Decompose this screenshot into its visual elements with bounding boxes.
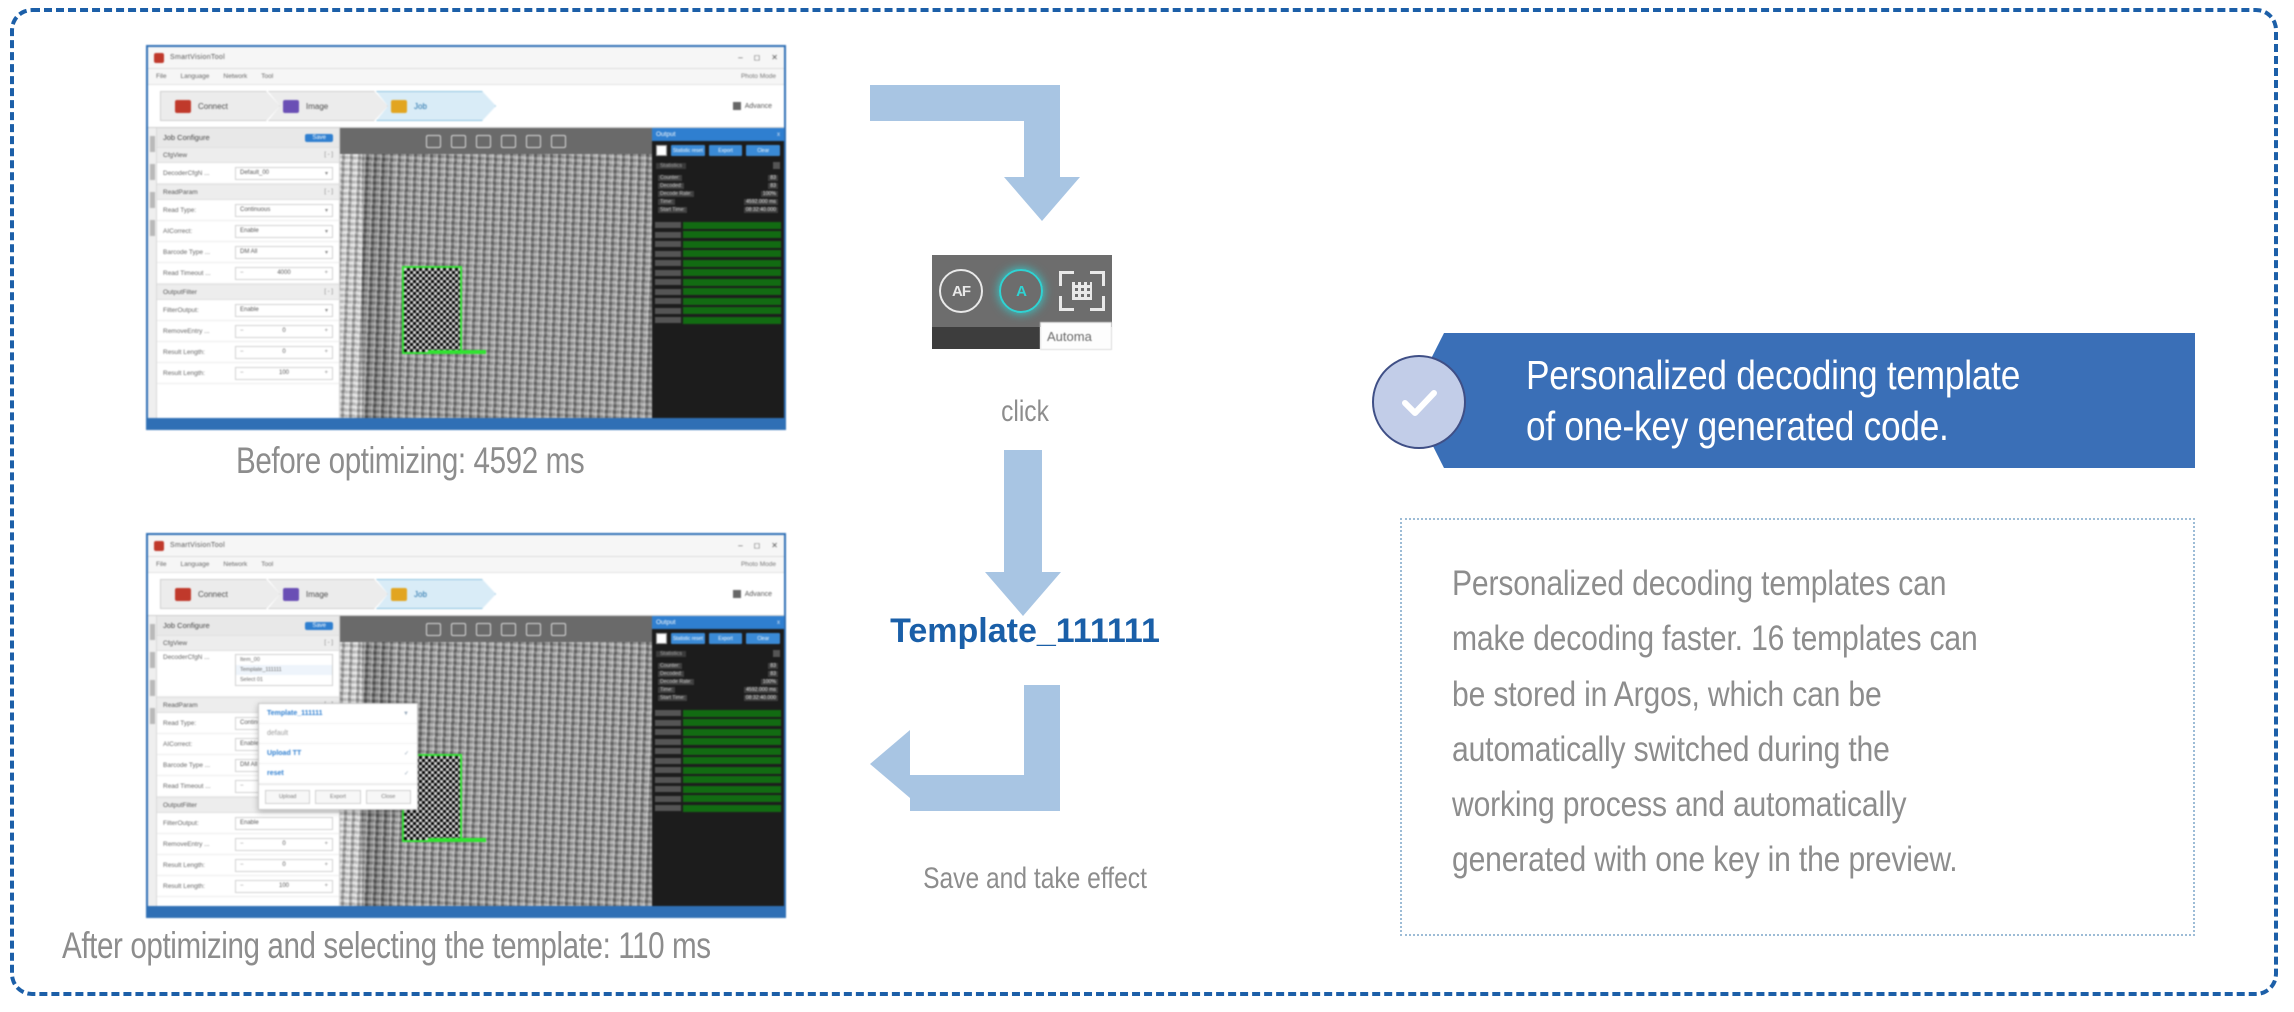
image-preview-pane[interactable] (340, 128, 652, 429)
output-buttons[interactable]: Statistic reset Export Clear (652, 141, 784, 160)
info-text: Personalized decoding templates can make… (1452, 556, 2209, 888)
window-menubar[interactable]: File Language Network Tool Photo Mode (148, 69, 784, 85)
row-label: Result Length: (163, 883, 235, 890)
autofocus-icon[interactable]: AF (939, 269, 983, 313)
row-label: Read Timeout ... (163, 270, 235, 277)
minimize-icon[interactable]: – (738, 542, 742, 550)
auto-mode-icon[interactable]: A (999, 269, 1043, 313)
tab-job-label: Job (414, 590, 427, 599)
roi-tail (428, 350, 486, 354)
ribbon-tabs[interactable]: Connect Image Job Advance (148, 573, 784, 616)
record-icon[interactable] (451, 623, 466, 636)
stepper-plus-icon[interactable]: + (324, 370, 328, 376)
template-select-dialog[interactable]: Template_111111 ▼ default Upload TT ✓ re… (258, 703, 418, 810)
dialog-upload-label: Upload TT (267, 750, 301, 757)
left-rail[interactable] (148, 616, 157, 917)
aicorrect-select[interactable]: Enable ▾ (235, 225, 333, 238)
row-result-length-1[interactable]: Result Length: − 0 + (157, 855, 339, 876)
log-row (655, 738, 781, 746)
log-row (655, 709, 781, 717)
tab-job-label: Job (414, 102, 427, 111)
log-row (655, 316, 781, 324)
roi-tail (428, 838, 486, 842)
tab-connect[interactable]: Connect (160, 91, 280, 121)
toolbar-footer (932, 327, 1040, 349)
row-remove-entry[interactable]: RemoveEntry ... − 0 + (157, 834, 339, 855)
camera-icon[interactable] (426, 623, 441, 636)
stepper-minus-icon[interactable]: − (240, 370, 244, 376)
row-decoder-cfg[interactable]: DecoderCfgN ... Default_00 ▾ (157, 163, 339, 184)
log-row (655, 728, 781, 736)
log-row (655, 307, 781, 315)
window-title: SmartVisionTool (170, 542, 225, 549)
stepper-plus-icon[interactable]: + (324, 349, 328, 355)
row-label: Result Length: (163, 862, 235, 869)
log-row (655, 795, 781, 803)
check-icon: ✓ (404, 770, 409, 777)
log-row (655, 719, 781, 727)
output-checkbox[interactable] (656, 633, 667, 644)
window-titlebar: SmartVisionTool – ◻ ✕ (148, 535, 784, 557)
row-value: Enable (240, 228, 259, 234)
log-row (655, 240, 781, 248)
banner-text: Personalized decoding template of one-ke… (1526, 350, 2020, 450)
advance-button[interactable]: Advance (733, 590, 772, 598)
menu-item-tool[interactable]: Tool (261, 561, 273, 568)
job-icon (391, 100, 407, 113)
log-row (655, 776, 781, 784)
dialog-default-label: default (267, 730, 288, 737)
zoom-in-icon[interactable] (526, 135, 541, 148)
job-configure-title: Job Configure (163, 621, 210, 630)
row-read-timeout[interactable]: Read Timeout ... − 4000 + (157, 263, 339, 284)
log-row (655, 259, 781, 267)
arrow-save-and-apply (870, 685, 1110, 845)
section-readparam-title: ReadParam (163, 189, 198, 196)
save-and-take-effect-label: Save and take effect (904, 862, 1166, 896)
stat-row: Decode Rate:100% (658, 679, 778, 685)
window-statusbar (148, 418, 784, 428)
caption-before: Before optimizing: 4592 ms (236, 440, 584, 482)
scan-code-icon[interactable] (1059, 271, 1105, 311)
menu-item-file[interactable]: File (156, 561, 166, 568)
chevron-down-icon[interactable]: ▼ (403, 711, 409, 717)
arrow-click-to-template (985, 450, 1061, 618)
menu-item-language[interactable]: Language (180, 561, 209, 568)
result-length-stepper-1[interactable]: − 0 + (235, 346, 333, 359)
output-title: Output (656, 131, 676, 138)
rail-icon-1[interactable] (150, 136, 155, 152)
stepper-minus-icon[interactable]: − (240, 783, 244, 789)
row-label: Result Length: (163, 370, 235, 377)
log-row (655, 747, 781, 755)
stat-row: Decoded:83 (658, 671, 778, 677)
log-row (655, 288, 781, 296)
statistic-reset-button[interactable]: Statistic reset (671, 145, 705, 156)
rail-icon-3[interactable] (150, 192, 155, 208)
barcode-type-select[interactable]: DM All ▾ (235, 246, 333, 259)
log-row (655, 297, 781, 305)
row-label: Read Timeout ... (163, 783, 235, 790)
save-image-icon[interactable] (476, 135, 491, 148)
stepper-minus-icon[interactable]: − (240, 841, 244, 847)
left-rail[interactable] (148, 128, 157, 429)
zoom-out-icon[interactable] (551, 623, 566, 636)
row-label: Read Type: (163, 720, 235, 727)
tab-image-label: Image (306, 102, 328, 111)
chevron-down-icon[interactable]: ▾ (325, 207, 328, 214)
dropdown-opt-1[interactable]: Item_00 (236, 655, 332, 665)
job-configure-header: Job Configure Save (157, 616, 339, 635)
statistics-table: Counter:83 Decoded:83 Decode Rate:100% T… (652, 659, 784, 707)
dialog-row-upload[interactable]: Upload TT ✓ (259, 744, 417, 764)
advance-button[interactable]: Advance (733, 102, 772, 110)
remove-entry-stepper[interactable]: − 0 + (235, 838, 333, 851)
job-configure-title: Job Configure (163, 133, 210, 142)
stepper-minus-icon[interactable]: − (240, 883, 244, 889)
rail-icon-3[interactable] (150, 680, 155, 696)
row-label: Barcode Type ... (163, 249, 235, 256)
decoder-cfg-select[interactable]: Default_00 ▾ (235, 167, 333, 180)
log-row (655, 278, 781, 286)
rail-icon-2[interactable] (150, 652, 155, 668)
row-label: Result Length: (163, 349, 235, 356)
tab-image[interactable]: Image (268, 91, 388, 121)
menu-item-language[interactable]: Language (180, 73, 209, 80)
app-logo-icon (154, 53, 164, 63)
window-controls[interactable]: – ◻ ✕ (738, 54, 778, 62)
stepper-plus-icon[interactable]: + (324, 883, 328, 889)
stat-row: Decoded:83 (658, 183, 778, 189)
row-value: 100 (279, 370, 289, 376)
output-panel: Output x Statistic reset Export Clear St… (652, 616, 784, 917)
output-close-icon[interactable]: x (777, 132, 780, 138)
dropdown-opt-3[interactable]: Select 01 (236, 675, 332, 685)
row-label: DecoderCfgN ... (163, 654, 235, 661)
stepper-minus-icon[interactable]: − (240, 270, 244, 276)
read-timeout-stepper[interactable]: − 4000 + (235, 267, 333, 280)
chevron-down-icon[interactable]: ▾ (325, 170, 328, 177)
stepper-plus-icon[interactable]: + (324, 270, 328, 276)
window-controls[interactable]: – ◻ ✕ (738, 542, 778, 550)
maximize-icon[interactable]: ◻ (754, 54, 761, 62)
menu-photo-mode[interactable]: Photo Mode (741, 73, 776, 80)
menu-item-network[interactable]: Network (223, 73, 247, 80)
row-label: Read Type: (163, 207, 235, 214)
section-cfgview-toggle[interactable]: [ - ] (324, 152, 333, 158)
row-remove-entry[interactable]: RemoveEntry ... − 0 + (157, 321, 339, 342)
zoom-fit-icon[interactable] (501, 135, 516, 148)
row-result-length-2[interactable]: Result Length: − 100 + (157, 876, 339, 897)
tab-job[interactable]: Job (376, 579, 496, 609)
log-row (655, 250, 781, 258)
stat-row: Time:4592.000 ms (658, 687, 778, 693)
app-logo-icon (154, 541, 164, 551)
stat-row: Decode Rate:100% (658, 191, 778, 197)
section-cfgview-toggle[interactable]: [ - ] (324, 640, 333, 646)
section-outputfilter[interactable]: OutputFilter [ - ] (157, 284, 339, 300)
maximize-icon[interactable]: ◻ (754, 542, 761, 550)
statistics-header: Statistics (652, 648, 784, 659)
window-title: SmartVisionTool (170, 54, 225, 61)
minimize-icon[interactable]: – (738, 54, 742, 62)
export-button[interactable]: Export (709, 633, 743, 644)
row-value: 4000 (277, 270, 290, 276)
stepper-plus-icon[interactable]: + (324, 328, 328, 334)
stepper-plus-icon[interactable]: + (324, 841, 328, 847)
dialog-close-button[interactable]: Close (366, 790, 411, 804)
stepper-minus-icon[interactable]: − (240, 349, 244, 355)
check-icon: ✓ (404, 750, 409, 757)
statistics-pin-icon[interactable] (773, 650, 780, 657)
tab-image[interactable]: Image (268, 579, 388, 609)
section-outputfilter-toggle[interactable]: [ - ] (324, 289, 333, 295)
save-image-icon[interactable] (476, 623, 491, 636)
output-titlebar: Output x (652, 616, 784, 629)
menu-photo-mode[interactable]: Photo Mode (741, 561, 776, 568)
ribbon-tabs[interactable]: Connect Image Job Advance (148, 85, 784, 128)
stepper-minus-icon[interactable]: − (240, 328, 244, 334)
advance-label: Advance (745, 591, 772, 598)
output-panel: Output x Statistic reset Export Clear St… (652, 128, 784, 429)
clear-button[interactable]: Clear (746, 145, 780, 156)
decode-log-list[interactable] (652, 707, 784, 917)
menu-item-tool[interactable]: Tool (261, 73, 273, 80)
result-length-stepper-2[interactable]: − 100 + (235, 367, 333, 380)
remove-entry-stepper[interactable]: − 0 + (235, 325, 333, 338)
row-label: AICorrect: (163, 741, 235, 748)
section-readparam[interactable]: ReadParam [ - ] (157, 184, 339, 200)
log-row (655, 785, 781, 793)
tab-connect[interactable]: Connect (160, 579, 280, 609)
dialog-export-button[interactable]: Export (315, 790, 360, 804)
chevron-down-icon[interactable]: ▾ (325, 249, 328, 256)
row-label: RemoveEntry ... (163, 328, 235, 335)
section-outputfilter-title: OutputFilter (163, 802, 197, 809)
rail-icon-1[interactable] (150, 624, 155, 640)
section-cfgview-title: CfgView (163, 640, 187, 647)
caption-after: After optimizing and selecting the templ… (62, 925, 711, 967)
statistic-reset-button[interactable]: Statistic reset (671, 633, 705, 644)
row-label: Barcode Type ... (163, 762, 235, 769)
row-value: Continuous (240, 207, 270, 213)
tab-connect-label: Connect (198, 590, 228, 599)
record-icon[interactable] (451, 135, 466, 148)
row-value: Enable (240, 307, 259, 313)
screenshot-after-optimizing: SmartVisionTool – ◻ ✕ File Language Netw… (146, 533, 786, 918)
section-outputfilter-title: OutputFilter (163, 289, 197, 296)
statistics-pin-icon[interactable] (773, 162, 780, 169)
stepper-plus-icon[interactable]: + (324, 862, 328, 868)
image-icon (283, 100, 299, 113)
rail-icon-4[interactable] (150, 708, 155, 724)
row-result-length-2[interactable]: Result Length: − 100 + (157, 363, 339, 384)
log-row (655, 269, 781, 277)
row-label: FilterOutput: (163, 820, 235, 827)
job-configure-header: Job Configure Save (157, 128, 339, 147)
stat-row: Counter:83 (658, 175, 778, 181)
row-value: 0 (282, 328, 285, 334)
window-titlebar: SmartVisionTool – ◻ ✕ (148, 47, 784, 69)
clear-button[interactable]: Clear (746, 633, 780, 644)
auto-mode-tooltip: Automa (1040, 322, 1112, 350)
statistics-label: Statistics (656, 651, 686, 657)
filter-output-select[interactable]: Enable ▾ (235, 304, 333, 317)
result-length-stepper-2[interactable]: − 100 + (235, 880, 333, 893)
filter-output-select[interactable]: Enable (235, 817, 333, 830)
dialog-row-default[interactable]: default (259, 724, 417, 744)
stat-row: Counter:83 (658, 663, 778, 669)
dialog-buttons[interactable]: Upload Export Close (259, 784, 417, 809)
export-button[interactable]: Export (709, 145, 743, 156)
row-aicorrect[interactable]: AICorrect: Enable ▾ (157, 221, 339, 242)
section-cfgview-title: CfgView (163, 152, 187, 159)
camera-mode-toolbar[interactable]: AF A (932, 255, 1112, 327)
dialog-template-name: Template_111111 (267, 710, 323, 717)
row-result-length-1[interactable]: Result Length: − 0 + (157, 342, 339, 363)
dialog-row-template[interactable]: Template_111111 ▼ (259, 704, 417, 724)
job-icon (391, 588, 407, 601)
grid-icon (733, 102, 741, 110)
log-row (655, 804, 781, 812)
chevron-down-icon[interactable]: ▾ (325, 307, 328, 314)
image-toolbar[interactable] (340, 128, 652, 154)
stepper-minus-icon[interactable]: − (240, 862, 244, 868)
arrow-into-toolbar (870, 85, 1110, 265)
row-label: FilterOutput: (163, 307, 235, 314)
output-title: Output (656, 619, 676, 626)
stat-row: Time:4592.000 ms (658, 199, 778, 205)
log-row (655, 766, 781, 774)
close-icon[interactable]: ✕ (771, 542, 778, 550)
tab-connect-label: Connect (198, 102, 228, 111)
read-type-select[interactable]: Continuous ▾ (235, 204, 333, 217)
section-cfgview[interactable]: CfgView [ - ] (157, 147, 339, 163)
rail-icon-2[interactable] (150, 164, 155, 180)
check-circle-icon (1372, 355, 1466, 449)
rail-icon-4[interactable] (150, 220, 155, 236)
advance-label: Advance (745, 103, 772, 110)
statistics-label: Statistics (656, 163, 686, 169)
dialog-reset-label: reset (267, 770, 284, 777)
decode-log-list[interactable] (652, 219, 784, 429)
result-length-stepper-1[interactable]: − 0 + (235, 859, 333, 872)
grid-icon (733, 590, 741, 598)
image-icon (283, 588, 299, 601)
stat-row: Start Time:08:32:40.000 (658, 695, 778, 701)
log-row (655, 221, 781, 229)
chevron-down-icon[interactable]: ▾ (325, 228, 328, 235)
section-readparam-title: ReadParam (163, 702, 198, 709)
log-row (655, 231, 781, 239)
window-menubar[interactable]: File Language Network Tool Photo Mode (148, 557, 784, 573)
zoom-out-icon[interactable] (551, 135, 566, 148)
datamatrix-roi (402, 266, 462, 354)
row-barcode-type[interactable]: Barcode Type ... DM All ▾ (157, 242, 339, 263)
row-value: 0 (282, 349, 285, 355)
image-toolbar[interactable] (340, 616, 652, 642)
save-config-button[interactable]: Save (305, 134, 333, 142)
menu-item-network[interactable]: Network (223, 561, 247, 568)
row-filter-output[interactable]: FilterOutput: Enable ▾ (157, 300, 339, 321)
zoom-in-icon[interactable] (526, 623, 541, 636)
click-label: click (968, 395, 1083, 429)
row-value: DM All (240, 249, 257, 255)
connect-icon (175, 588, 191, 601)
section-cfgview[interactable]: CfgView [ - ] (157, 635, 339, 651)
template-name-label: Template_111111 (865, 612, 1185, 651)
close-icon[interactable]: ✕ (771, 54, 778, 62)
camera-icon[interactable] (426, 135, 441, 148)
tab-image-label: Image (306, 590, 328, 599)
dialog-row-reset[interactable]: reset ✓ (259, 764, 417, 784)
job-configure-panel: Job Configure Save CfgView [ - ] Decoder… (157, 128, 340, 429)
output-checkbox[interactable] (656, 145, 667, 156)
statistics-table: Counter:83 Decoded:83 Decode Rate:100% T… (652, 171, 784, 219)
dialog-upload-button[interactable]: Upload (265, 790, 310, 804)
camera-image (340, 154, 652, 429)
screenshot-before-optimizing: SmartVisionTool – ◻ ✕ File Language Netw… (146, 45, 786, 430)
log-row (655, 757, 781, 765)
row-read-type[interactable]: Read Type: Continuous ▾ (157, 200, 339, 221)
connect-icon (175, 100, 191, 113)
output-titlebar: Output x (652, 128, 784, 141)
menu-item-file[interactable]: File (156, 73, 166, 80)
stat-row: Start Time:08:32:40.000 (658, 207, 778, 213)
row-filter-output[interactable]: FilterOutput: Enable (157, 813, 339, 834)
row-label: RemoveEntry ... (163, 841, 235, 848)
window-statusbar (148, 906, 784, 916)
row-label: DecoderCfgN ... (163, 170, 235, 177)
zoom-fit-icon[interactable] (501, 623, 516, 636)
row-decoder-cfg-open[interactable]: DecoderCfgN ... Item_00 Template_111111 … (157, 651, 339, 697)
output-buttons[interactable]: Statistic reset Export Clear (652, 629, 784, 648)
statistics-header: Statistics (652, 160, 784, 171)
row-value: Default_00 (240, 170, 269, 176)
row-label: AICorrect: (163, 228, 235, 235)
save-config-button[interactable]: Save (305, 622, 333, 630)
output-close-icon[interactable]: x (777, 620, 780, 626)
tab-job[interactable]: Job (376, 91, 496, 121)
section-readparam-toggle[interactable]: [ - ] (324, 189, 333, 195)
highlight-banner: Personalized decoding template of one-ke… (1410, 333, 2195, 468)
dropdown-opt-2[interactable]: Template_111111 (236, 665, 332, 675)
